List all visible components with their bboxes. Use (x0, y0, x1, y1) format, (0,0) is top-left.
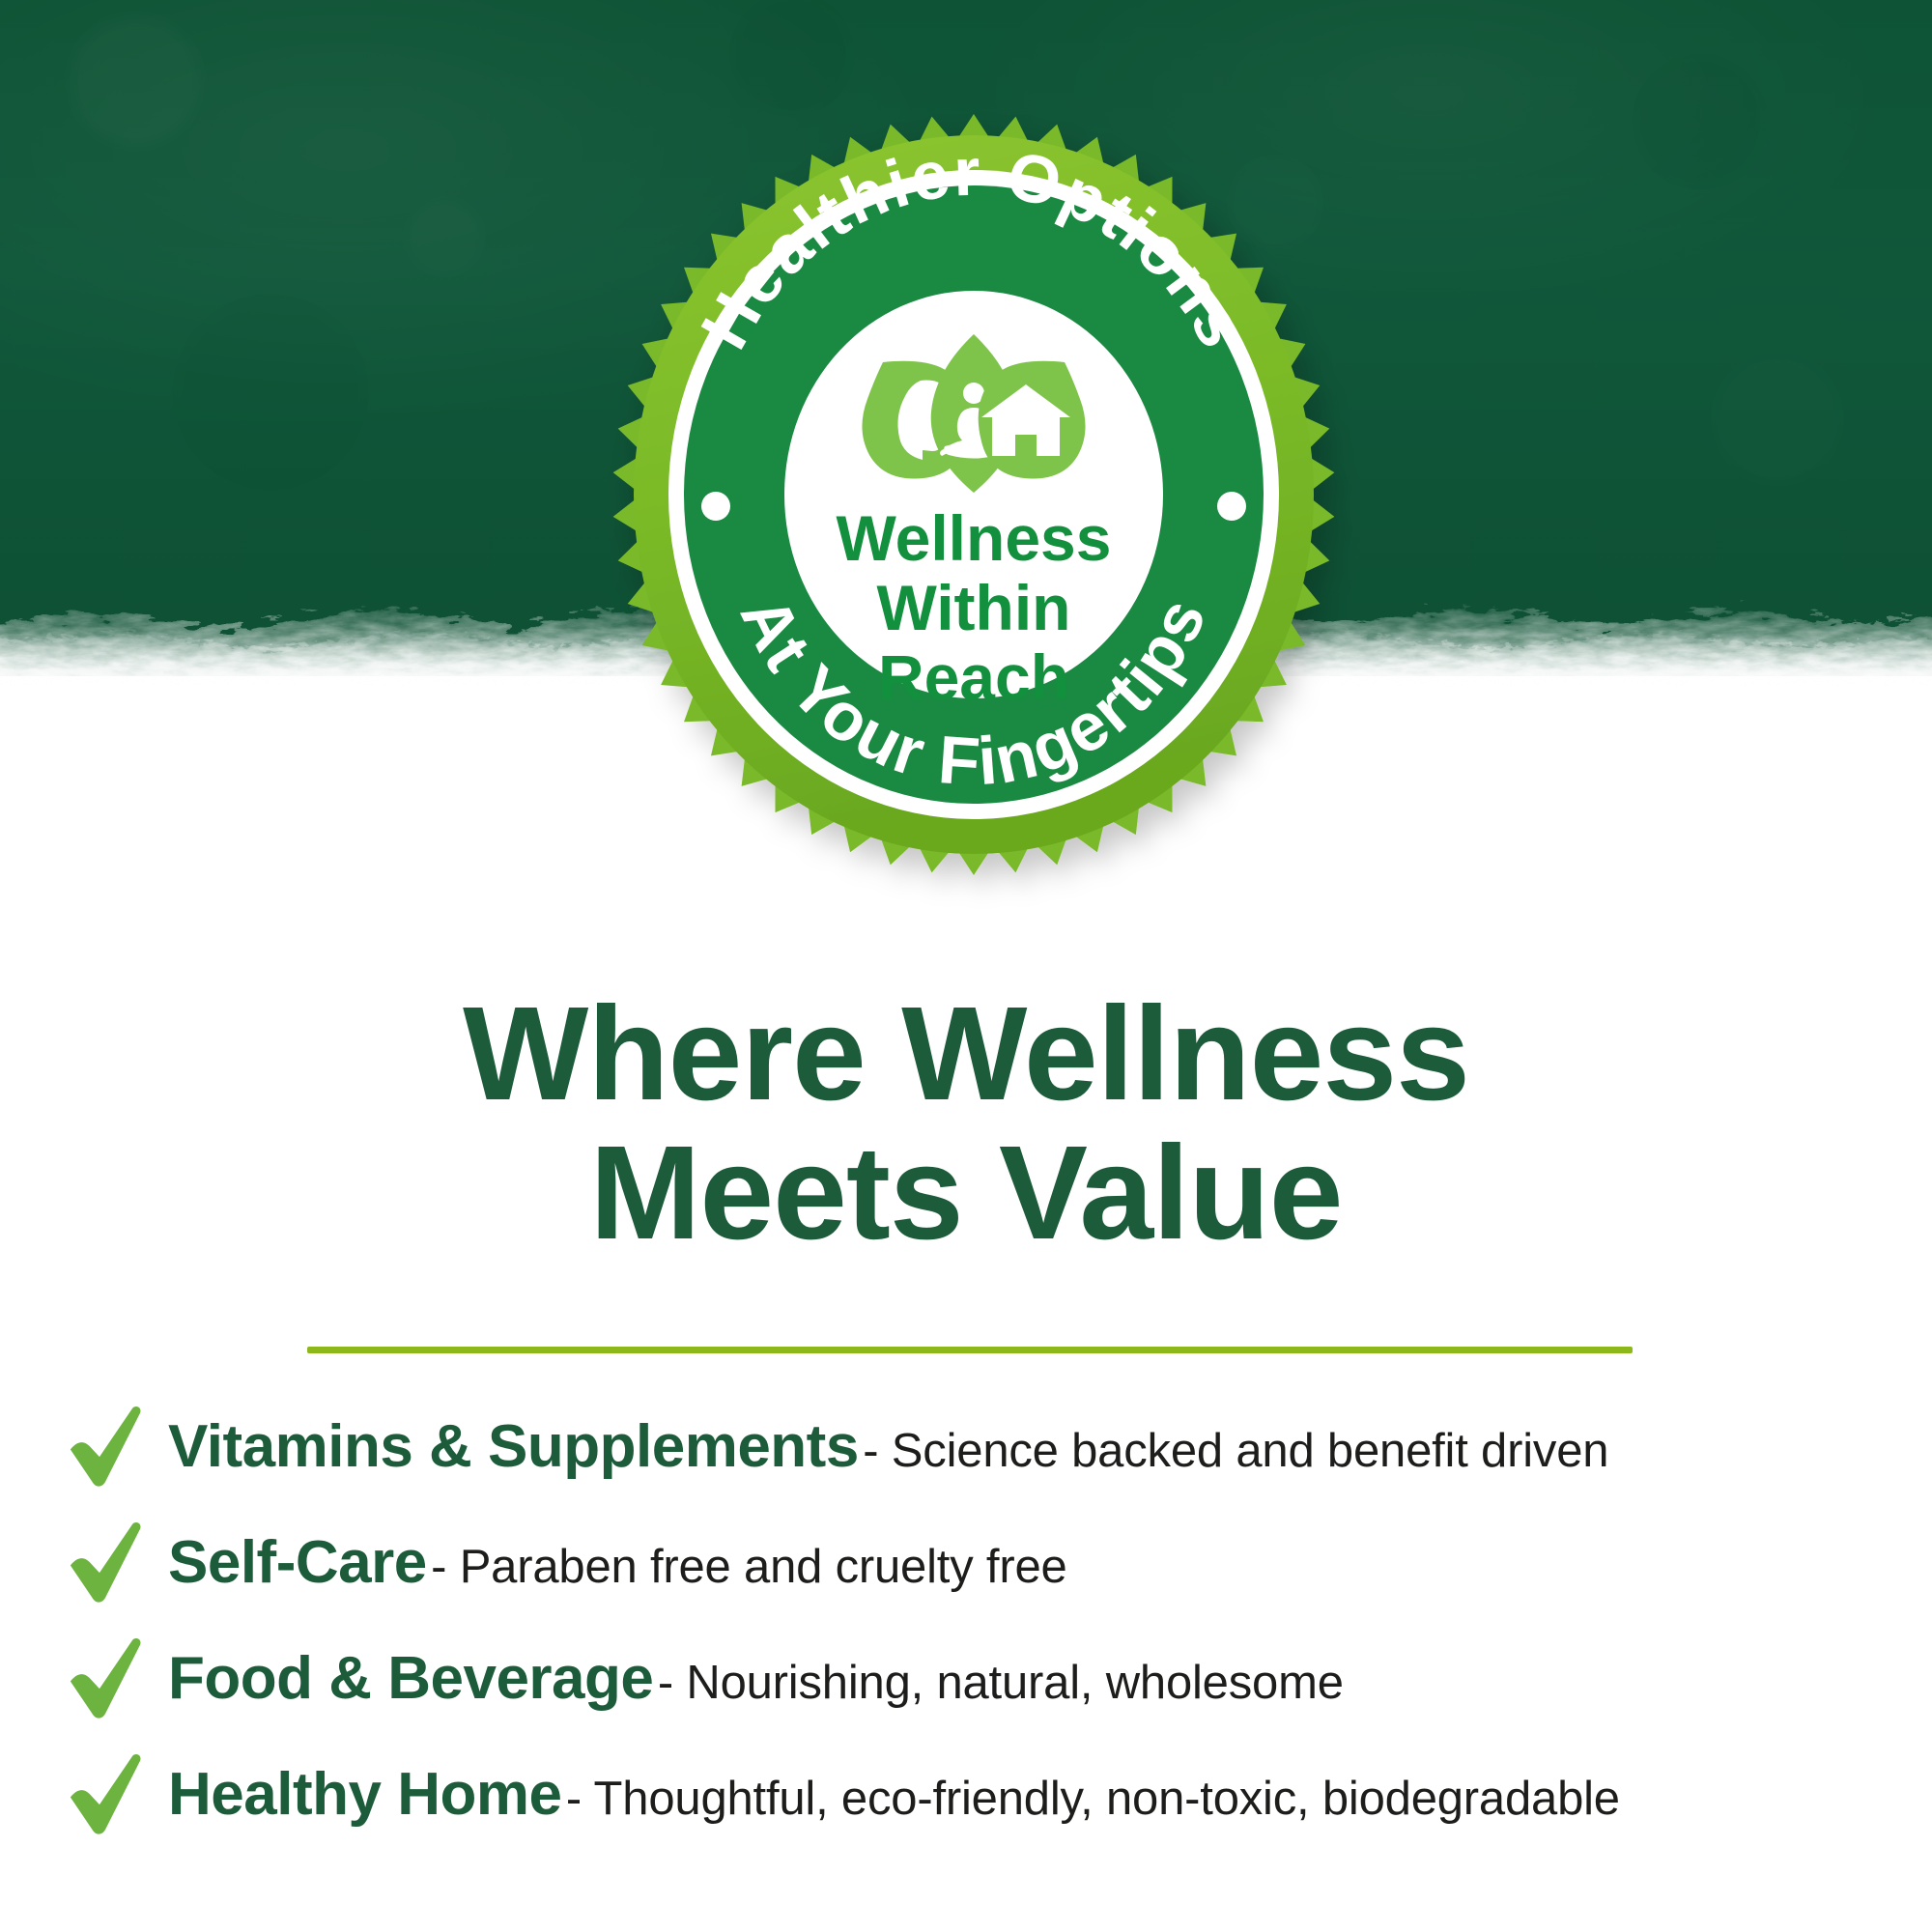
check-icon (58, 1520, 168, 1604)
list-item-text: Vitamins & Supplements - Science backed … (168, 1412, 1922, 1481)
page-title-line-1: Where Wellness (0, 985, 1932, 1124)
check-icon (58, 1636, 168, 1719)
list-item-description: - Thoughtful, eco-friendly, non-toxic, b… (566, 1773, 1620, 1825)
list-item-title: Food & Beverage (168, 1645, 653, 1712)
list-item-description: - Science backed and benefit driven (863, 1425, 1608, 1477)
benefits-list: Vitamins & Supplements - Science backed … (58, 1399, 1922, 1862)
list-item-text: Healthy Home - Thoughtful, eco-friendly,… (168, 1760, 1922, 1829)
list-item-description: - Nourishing, natural, wholesome (658, 1657, 1344, 1709)
check-icon (58, 1405, 168, 1488)
list-item-title: Healthy Home (168, 1761, 561, 1828)
list-item-text: Food & Beverage - Nourishing, natural, w… (168, 1644, 1922, 1713)
badge-separator-dot-left (701, 492, 730, 521)
list-item-title: Vitamins & Supplements (168, 1413, 859, 1480)
wellness-within-reach-badge: Healthier Options At Your Fingertips (578, 128, 1370, 862)
badge-separator-dot-right (1217, 492, 1246, 521)
list-item: Vitamins & Supplements - Science backed … (58, 1399, 1922, 1493)
title-divider-rule (307, 1347, 1633, 1353)
check-icon (58, 1752, 168, 1835)
badge-word-line-1: Wellness (837, 502, 1112, 574)
page-title-line-2: Meets Value (0, 1124, 1932, 1264)
list-item-text: Self-Care - Paraben free and cruelty fre… (168, 1528, 1922, 1597)
badge-word-line-3: Reach (878, 641, 1069, 713)
list-item-title: Self-Care (168, 1529, 427, 1596)
list-item: Food & Beverage - Nourishing, natural, w… (58, 1631, 1922, 1725)
badge-word-line-2: Within (877, 572, 1071, 643)
list-item: Self-Care - Paraben free and cruelty fre… (58, 1515, 1922, 1609)
leaf-house-icon (979, 361, 1086, 479)
list-item-description: - Paraben free and cruelty free (431, 1541, 1066, 1593)
list-item: Healthy Home - Thoughtful, eco-friendly,… (58, 1747, 1922, 1841)
page-title: Where Wellness Meets Value (0, 985, 1932, 1263)
